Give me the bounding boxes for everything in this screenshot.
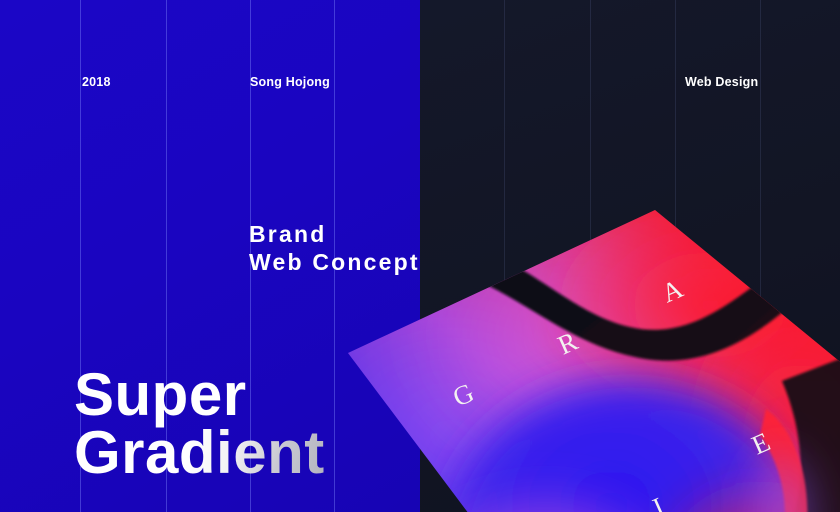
poster-canvas: G R A I E 2018 Song Hojong Web Design Br… [0, 0, 840, 512]
subheading-line-1: Brand [249, 220, 420, 248]
meta-category: Web Design [685, 75, 758, 89]
gridline-dark-4 [760, 0, 761, 512]
dark-panel [420, 0, 840, 512]
page-title-line-2: Gradient [74, 424, 325, 482]
subheading: Brand Web Concept [249, 220, 420, 276]
meta-year: 2018 [82, 75, 111, 89]
subheading-line-2: Web Concept [249, 248, 420, 276]
gridline-dark-3 [675, 0, 676, 512]
gridline-dark-2 [590, 0, 591, 512]
page-title-line-1: Super [74, 366, 325, 424]
page-title: Super Gradient [74, 366, 325, 482]
gridline-dark-1 [504, 0, 505, 512]
meta-author: Song Hojong [250, 75, 330, 89]
